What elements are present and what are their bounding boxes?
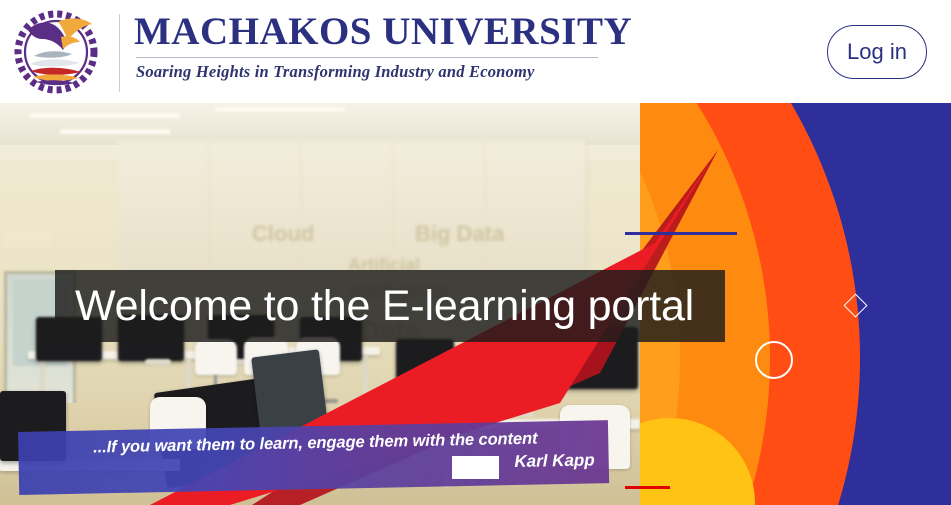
quote-banner: ...If you want them to learn, engage the…: [18, 420, 609, 495]
login-button[interactable]: Log in: [827, 25, 927, 79]
deco-dash-blue: [625, 232, 737, 235]
redaction-box: [452, 456, 499, 479]
university-logo-icon: [8, 6, 104, 98]
name-divider-rule: [136, 57, 598, 58]
elearning-portal-page: MACHAKOS UNIVERSITY Soaring Heights in T…: [0, 0, 951, 505]
university-name: MACHAKOS UNIVERSITY: [134, 10, 604, 54]
quote-author: Karl Kapp: [514, 448, 595, 474]
university-tagline: Soaring Heights in Transforming Industry…: [136, 62, 604, 82]
deco-dash-red: [625, 486, 670, 489]
brand-block: MACHAKOS UNIVERSITY Soaring Heights in T…: [8, 4, 104, 100]
site-header: MACHAKOS UNIVERSITY Soaring Heights in T…: [0, 0, 951, 103]
hero-section: Cloud Big Data Artificial Intelligence D…: [0, 103, 951, 505]
brand-divider: [119, 14, 120, 92]
welcome-title: Welcome to the E-learning portal: [75, 277, 694, 335]
deco-circle-outline-icon: [755, 341, 793, 379]
welcome-banner: Welcome to the E-learning portal: [55, 270, 725, 342]
brand-text-block: MACHAKOS UNIVERSITY Soaring Heights in T…: [134, 10, 604, 82]
